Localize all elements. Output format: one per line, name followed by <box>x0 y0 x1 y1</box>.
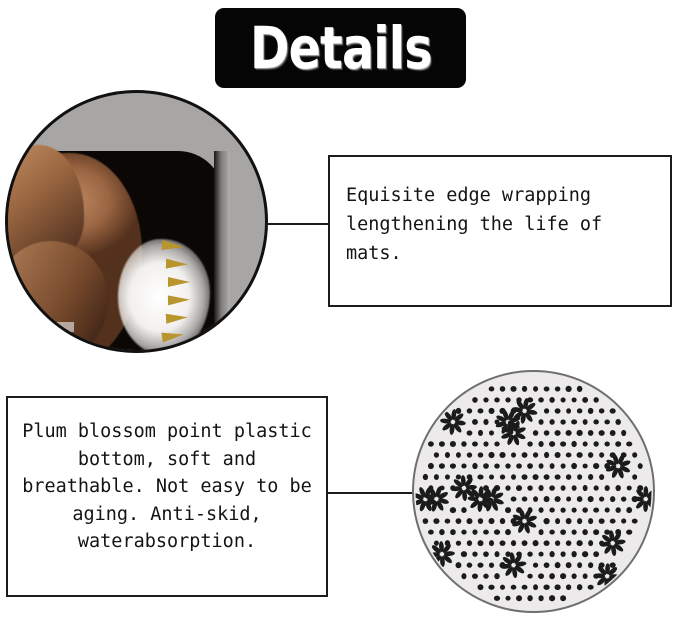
product-details-infographic: Details Equisite edge wrapping lengtheni <box>0 0 679 619</box>
crown-graphic <box>168 233 210 353</box>
edge-photo-composition <box>8 93 265 350</box>
page-title: Details <box>250 19 432 77</box>
callout-plum-blossom-bottom: Plum blossom point plastic bottom, soft … <box>6 396 328 597</box>
connector-line-edge-wrapping <box>266 223 330 225</box>
edge-wrapping-photo <box>5 90 268 353</box>
mat-edge-highlight <box>214 151 230 353</box>
plum-blossom-mat-photo <box>412 370 655 613</box>
plum-blossom-pattern <box>414 372 653 611</box>
callout-edge-wrapping: Equisite edge wrapping lengthening the l… <box>328 155 672 307</box>
details-title-banner: Details <box>215 8 466 88</box>
photo-watermark <box>48 322 74 332</box>
connector-line-plum-blossom <box>326 492 414 494</box>
